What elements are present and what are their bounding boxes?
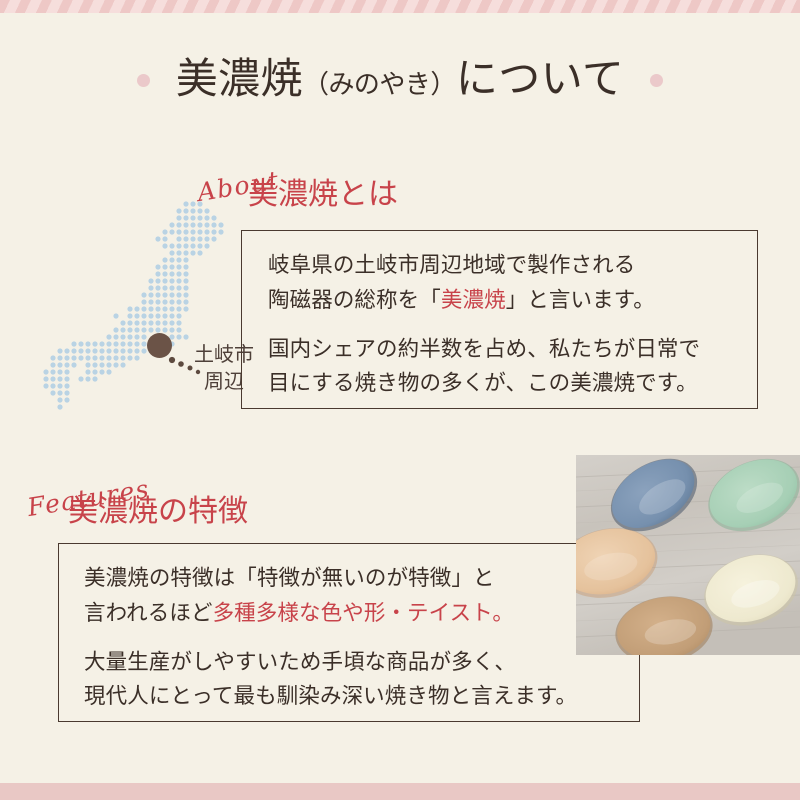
japan-map: 土岐市 周辺 xyxy=(34,190,264,420)
about-paragraph-2-line-2: 目にする焼き物の多くが、この美濃焼です。 xyxy=(268,366,700,401)
features-paragraph-2-line-1: 大量生産がしやすいため手頃な商品が多く、 xyxy=(84,645,577,680)
features-body-text: 美濃焼の特徴は「特徴が無いのが特徴」と 言われるほど多種多様な色や形・テイスト。… xyxy=(84,561,577,714)
features-paragraph-2-line-2: 現代人にとって最も馴染み深い焼き物と言えます。 xyxy=(84,679,577,714)
features-p1l2-text-a: 言われるほど xyxy=(84,601,213,625)
title-dot-right-icon xyxy=(650,74,663,87)
page-title: 美濃焼（みのやき）について xyxy=(176,59,625,101)
plates-photo-image xyxy=(576,455,800,655)
features-p2l1-text: 大量生産がしやすいため手頃な商品が多く、 xyxy=(84,650,516,674)
features-paragraph-1-line-2: 言われるほど多種多様な色や形・テイスト。 xyxy=(84,596,577,631)
features-paragraph-1-line-1: 美濃焼の特徴は「特徴が無いのが特徴」と xyxy=(84,561,577,596)
about-p1l1-text: 岐阜県の土岐市周辺地域で製作される xyxy=(268,253,635,277)
about-paragraph-1-line-2: 陶磁器の総称を「美濃焼」と言います。 xyxy=(268,283,700,318)
features-p2l2-text: 現代人にとって最も馴染み深い焼き物と言えます。 xyxy=(84,684,577,708)
top-stripe-decoration xyxy=(0,0,800,13)
about-p1l2-text-a: 陶磁器の総称を「 xyxy=(268,288,441,312)
bottom-bar-decoration xyxy=(0,783,800,800)
page-root: 美濃焼（みのやき）について About 美濃焼とは xyxy=(0,0,800,800)
minoyaki-plates-photo xyxy=(576,455,800,655)
about-body-text: 岐阜県の土岐市周辺地域で製作される 陶磁器の総称を「美濃焼」と言います。 国内シ… xyxy=(268,248,700,401)
about-section-heading: 美濃焼とは xyxy=(248,180,398,210)
about-paragraph-gap xyxy=(268,318,700,332)
features-section-heading: 美濃焼の特徴 xyxy=(68,497,248,527)
page-title-kana: （みのやき） xyxy=(303,70,456,99)
features-p1l2-accent: 多種多様な色や形・テイスト xyxy=(213,601,493,625)
title-dot-left-icon xyxy=(137,74,150,87)
about-paragraph-2-line-1: 国内シェアの約半数を占め、私たちが日常で xyxy=(268,332,700,367)
page-title-main: 美濃焼 xyxy=(176,57,303,103)
about-p2l1-text: 国内シェアの約半数を占め、私たちが日常で xyxy=(268,337,700,361)
features-p1l2-text-b: 。 xyxy=(492,601,514,625)
about-paragraph-1-line-1: 岐阜県の土岐市周辺地域で製作される xyxy=(268,248,700,283)
features-p1l1-text: 美濃焼の特徴は「特徴が無いのが特徴」と xyxy=(84,566,495,590)
page-title-tail: について xyxy=(456,57,624,103)
features-paragraph-gap xyxy=(84,631,577,645)
about-p1l2-accent: 美濃焼 xyxy=(441,288,506,312)
page-title-row: 美濃焼（みのやき）について xyxy=(0,48,800,112)
about-p2l2-text: 目にする焼き物の多くが、この美濃焼です。 xyxy=(268,371,698,395)
about-p1l2-text-b: 」と言います。 xyxy=(506,288,655,312)
